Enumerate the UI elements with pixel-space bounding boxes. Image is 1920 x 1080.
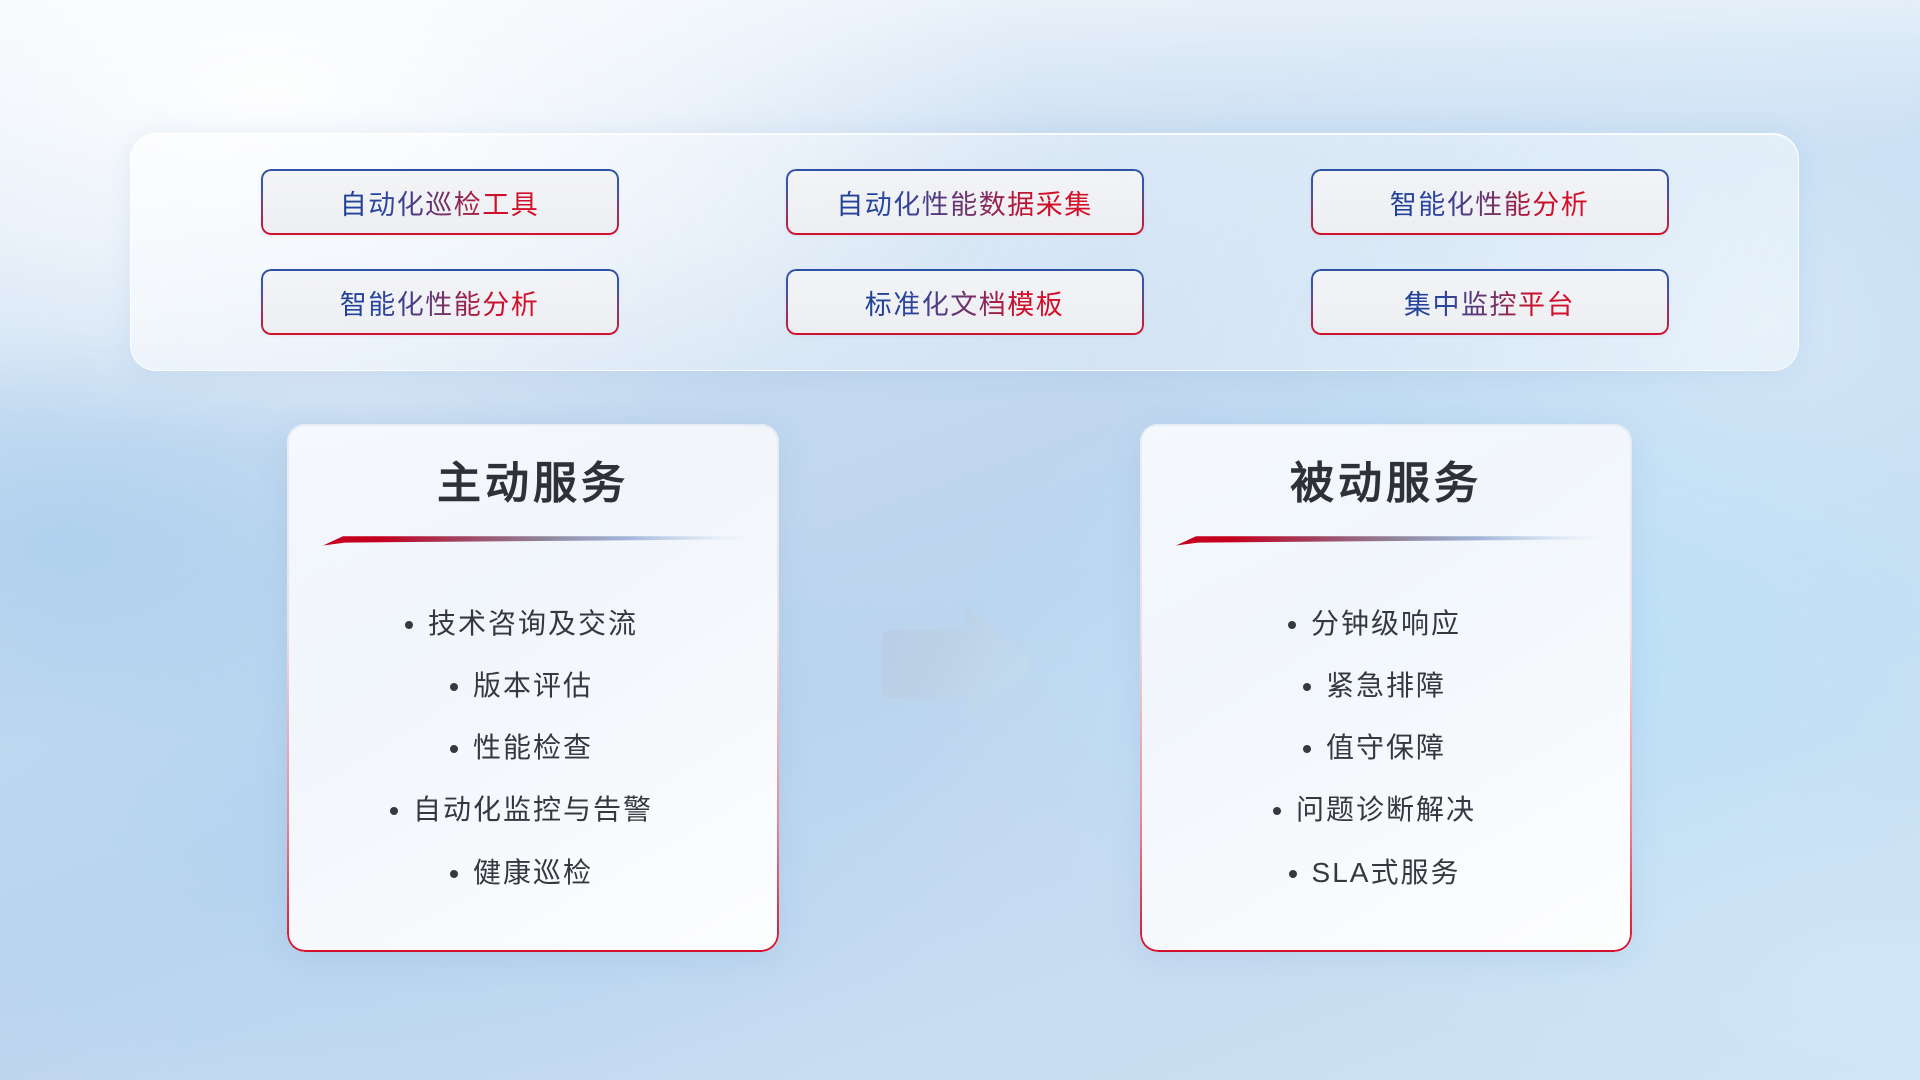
- service-list-item: 分钟级响应: [1311, 607, 1461, 641]
- service-list-item: 自动化监控与告警: [413, 793, 653, 827]
- capability-chip[interactable]: 智能化性能分析: [261, 269, 619, 335]
- service-list-item: SLA式服务: [1312, 856, 1461, 890]
- capability-chip[interactable]: 自动化性能数据采集: [786, 169, 1144, 235]
- capability-chip-label: 集中监控平台: [1404, 283, 1575, 322]
- service-list-item: 紧急排障: [1326, 669, 1446, 703]
- capability-chip[interactable]: 智能化性能分析: [1311, 169, 1669, 235]
- service-card-active: 主动服务: [287, 424, 779, 952]
- title-divider: [321, 532, 745, 548]
- capability-chip-label: 智能化性能分析: [1390, 183, 1590, 222]
- service-list-item: 问题诊断解决: [1296, 793, 1476, 827]
- service-item-list: 分钟级响应 紧急排障 值守保障 问题诊断解决 SLA式服务: [1174, 578, 1598, 924]
- service-card-inner: 被动服务: [1140, 424, 1632, 952]
- capability-chip-grid: 自动化巡检工具 自动化性能数据采集 智能化性能分析 智能化性能分析 标准化文档模…: [131, 134, 1798, 370]
- capability-chip[interactable]: 自动化巡检工具: [261, 169, 619, 235]
- service-list-item: 健康巡检: [473, 856, 593, 890]
- capability-chip-label: 自动化性能数据采集: [836, 183, 1093, 222]
- service-card-title: 主动服务: [437, 458, 629, 510]
- service-list-item: 技术咨询及交流: [428, 607, 638, 641]
- arrow-right-icon: [874, 608, 1034, 720]
- capability-chip-label: 自动化巡检工具: [340, 183, 540, 222]
- capability-chip[interactable]: 标准化文档模板: [786, 269, 1144, 335]
- capability-panel: 自动化巡检工具 自动化性能数据采集 智能化性能分析 智能化性能分析 标准化文档模…: [130, 133, 1799, 371]
- service-list-item: 版本评估: [473, 669, 593, 703]
- service-card-inner: 主动服务: [287, 424, 779, 952]
- service-card-title: 被动服务: [1290, 458, 1482, 510]
- diagram-canvas: 自动化巡检工具 自动化性能数据采集 智能化性能分析 智能化性能分析 标准化文档模…: [0, 0, 1920, 1080]
- service-card-passive: 被动服务: [1140, 424, 1632, 952]
- service-list-item: 性能检查: [473, 731, 593, 765]
- service-list-item: 值守保障: [1326, 731, 1446, 765]
- capability-chip-label: 智能化性能分析: [340, 283, 540, 322]
- title-divider: [1174, 532, 1598, 548]
- capability-chip[interactable]: 集中监控平台: [1311, 269, 1669, 335]
- service-item-list: 技术咨询及交流 版本评估 性能检查 自动化监控与告警 健康巡检: [321, 578, 745, 924]
- capability-chip-label: 标准化文档模板: [865, 283, 1065, 322]
